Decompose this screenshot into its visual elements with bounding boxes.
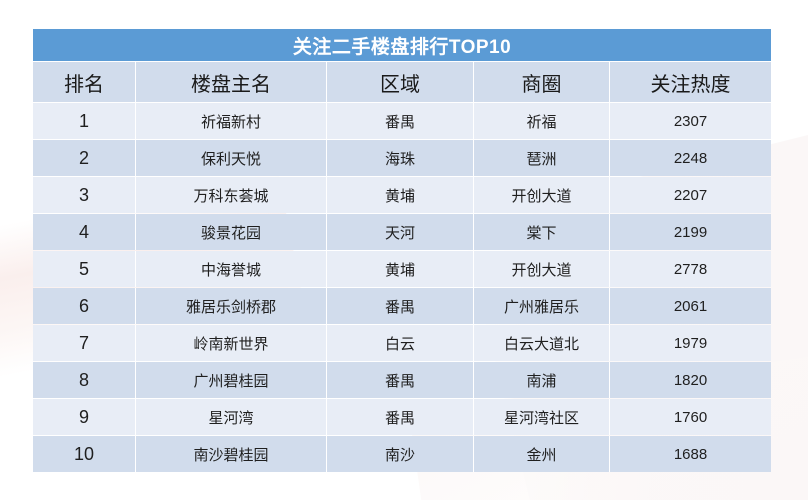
cell-name: 南沙碧桂园 xyxy=(136,436,327,472)
cell-name: 广州碧桂园 xyxy=(136,362,327,398)
cell-name: 祈福新村 xyxy=(136,103,327,139)
cell-rank: 8 xyxy=(33,362,136,398)
column-header-name: 楼盘主名 xyxy=(136,62,327,102)
cell-business: 南浦 xyxy=(474,362,610,398)
cell-heat: 2248 xyxy=(610,140,771,176)
cell-rank: 5 xyxy=(33,251,136,287)
cell-area: 番禺 xyxy=(327,103,474,139)
cell-business: 祈福 xyxy=(474,103,610,139)
table-title-bar: 关注二手楼盘排行TOP10 xyxy=(33,29,771,61)
cell-rank: 2 xyxy=(33,140,136,176)
cell-rank: 10 xyxy=(33,436,136,472)
cell-rank: 3 xyxy=(33,177,136,213)
cell-name: 保利天悦 xyxy=(136,140,327,176)
table-title: 关注二手楼盘排行TOP10 xyxy=(33,29,771,61)
cell-area: 天河 xyxy=(327,214,474,250)
table-row: 10 南沙碧桂园 南沙 金州 1688 xyxy=(33,436,771,472)
cell-area: 番禺 xyxy=(327,362,474,398)
cell-name: 星河湾 xyxy=(136,399,327,435)
table-row: 8 广州碧桂园 番禺 南浦 1820 xyxy=(33,362,771,398)
cell-heat: 1979 xyxy=(610,325,771,361)
cell-name: 万科东荟城 xyxy=(136,177,327,213)
cell-area: 白云 xyxy=(327,325,474,361)
cell-name: 中海誉城 xyxy=(136,251,327,287)
cell-rank: 4 xyxy=(33,214,136,250)
cell-heat: 2207 xyxy=(610,177,771,213)
cell-area: 海珠 xyxy=(327,140,474,176)
cell-area: 黄埔 xyxy=(327,251,474,287)
table-row: 6 雅居乐剑桥郡 番禺 广州雅居乐 2061 xyxy=(33,288,771,324)
table-row: 2 保利天悦 海珠 琶洲 2248 xyxy=(33,140,771,176)
column-header-heat: 关注热度 xyxy=(610,62,771,102)
cell-rank: 7 xyxy=(33,325,136,361)
cell-name: 岭南新世界 xyxy=(136,325,327,361)
cell-business: 棠下 xyxy=(474,214,610,250)
cell-heat: 2199 xyxy=(610,214,771,250)
table-row: 9 星河湾 番禺 星河湾社区 1760 xyxy=(33,399,771,435)
table-header-row: 排名 楼盘主名 区域 商圈 关注热度 xyxy=(33,62,771,102)
cell-area: 番禺 xyxy=(327,399,474,435)
table-row: 3 万科东荟城 黄埔 开创大道 2207 xyxy=(33,177,771,213)
cell-business: 星河湾社区 xyxy=(474,399,610,435)
cell-business: 开创大道 xyxy=(474,251,610,287)
column-header-area: 区域 xyxy=(327,62,474,102)
ranking-table-container: 关注二手楼盘排行TOP10 排名 楼盘主名 区域 商圈 关注热度 1 祈福新村 … xyxy=(33,28,771,473)
table-body: 1 祈福新村 番禺 祈福 2307 2 保利天悦 海珠 琶洲 2248 3 万科… xyxy=(33,103,771,472)
cell-heat: 2778 xyxy=(610,251,771,287)
cell-heat: 1820 xyxy=(610,362,771,398)
cell-rank: 1 xyxy=(33,103,136,139)
cell-name: 雅居乐剑桥郡 xyxy=(136,288,327,324)
cell-rank: 9 xyxy=(33,399,136,435)
cell-business: 广州雅居乐 xyxy=(474,288,610,324)
table-row: 4 骏景花园 天河 棠下 2199 xyxy=(33,214,771,250)
column-header-rank: 排名 xyxy=(33,62,136,102)
cell-business: 白云大道北 xyxy=(474,325,610,361)
column-header-business: 商圈 xyxy=(474,62,610,102)
cell-business: 开创大道 xyxy=(474,177,610,213)
cell-heat: 2307 xyxy=(610,103,771,139)
cell-business: 金州 xyxy=(474,436,610,472)
cell-area: 黄埔 xyxy=(327,177,474,213)
cell-area: 番禺 xyxy=(327,288,474,324)
cell-business: 琶洲 xyxy=(474,140,610,176)
cell-name: 骏景花园 xyxy=(136,214,327,250)
table-row: 5 中海誉城 黄埔 开创大道 2778 xyxy=(33,251,771,287)
cell-heat: 2061 xyxy=(610,288,771,324)
table-row: 1 祈福新村 番禺 祈福 2307 xyxy=(33,103,771,139)
ranking-table: 关注二手楼盘排行TOP10 排名 楼盘主名 区域 商圈 关注热度 1 祈福新村 … xyxy=(33,28,771,473)
cell-heat: 1760 xyxy=(610,399,771,435)
cell-area: 南沙 xyxy=(327,436,474,472)
table-row: 7 岭南新世界 白云 白云大道北 1979 xyxy=(33,325,771,361)
cell-rank: 6 xyxy=(33,288,136,324)
cell-heat: 1688 xyxy=(610,436,771,472)
